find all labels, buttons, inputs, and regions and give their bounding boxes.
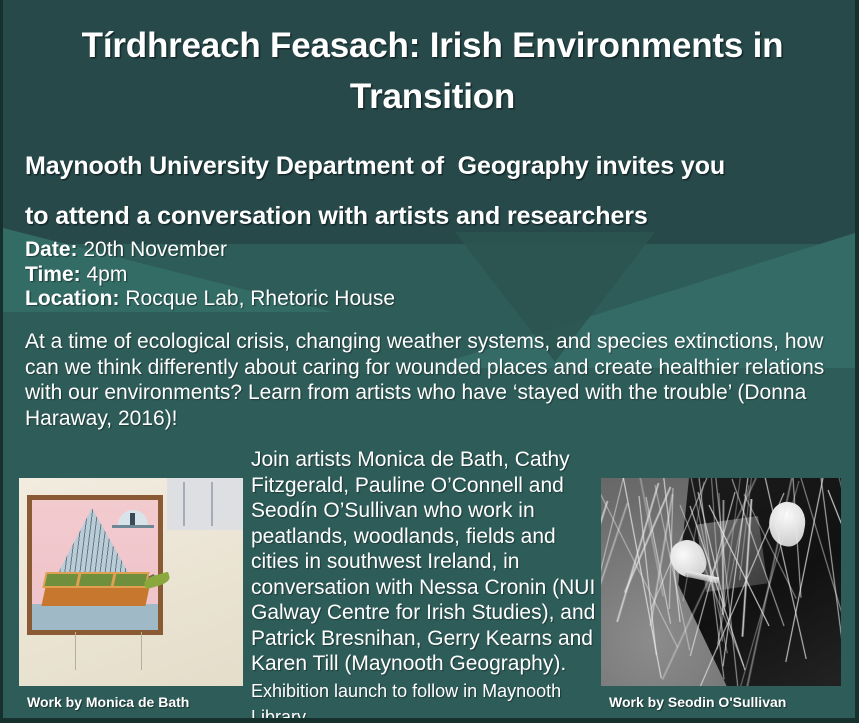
event-time-row: Time: 4pm <box>25 263 395 288</box>
body-paragraph-artists: Join artists Monica de Bath, Cathy Fitzg… <box>25 447 837 709</box>
poster-subtitle: Maynooth University Department of Geogra… <box>25 141 837 241</box>
event-poster: Tírdhreach Feasach: Irish Environments i… <box>0 0 859 723</box>
poster-title: Tírdhreach Feasach: Irish Environments i… <box>43 20 822 122</box>
artists-text-main: Join artists Monica de Bath, Cathy Fitzg… <box>251 448 595 675</box>
event-details: Date: 20th November Time: 4pm Location: … <box>25 238 395 312</box>
event-date-value: 20th November <box>83 238 227 261</box>
event-location-value: Rocque Lab, Rhetoric House <box>125 287 395 310</box>
event-time-label: Time: <box>25 263 81 286</box>
text-wrap-spacer-left <box>25 474 251 706</box>
event-location-label: Location: <box>25 287 120 310</box>
event-date-label: Date: <box>25 238 78 261</box>
caption-right: Work by Seodin O'Sullivan <box>609 694 786 710</box>
body-paragraph-intro: At a time of ecological crisis, changing… <box>25 329 833 431</box>
caption-left: Work by Monica de Bath <box>27 694 189 710</box>
event-location-row: Location: Rocque Lab, Rhetoric House <box>25 287 395 312</box>
event-date-row: Date: 20th November <box>25 238 395 263</box>
text-wrap-spacer-right <box>597 474 837 706</box>
event-time-value: 4pm <box>86 263 127 286</box>
